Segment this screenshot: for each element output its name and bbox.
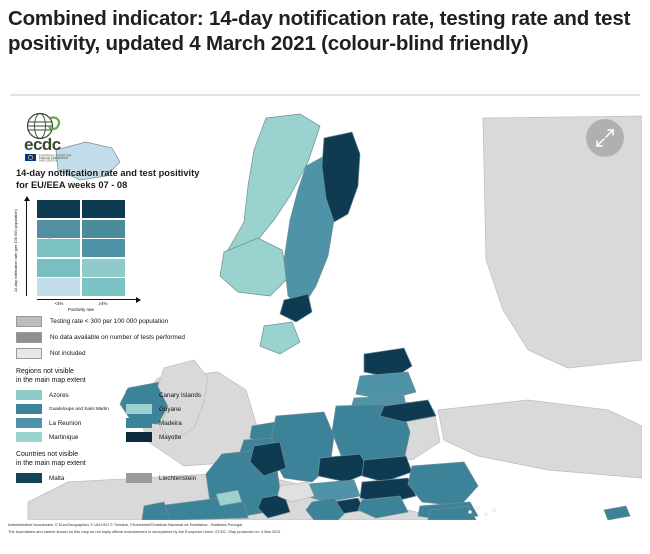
- ecdc-logo-mark: ecdc EUROPEAN CENTRE FOR DISEASE PREVENT…: [16, 112, 104, 162]
- legend-cell-r3c0: [37, 259, 80, 277]
- region-item-guadeloupe-saint-martin: Guadeloupe and Saint Martin: [16, 403, 126, 415]
- region-item-azores: Azores: [16, 389, 126, 401]
- svg-text:AND CONTROL: AND CONTROL: [39, 159, 58, 162]
- bivariate-legend-matrix: 14-day notification rate (per 100 000 po…: [12, 200, 227, 312]
- region-item-martinique: Martinique: [16, 431, 126, 443]
- region-label-5: Madeira: [159, 420, 182, 427]
- region-label-6: Martinique: [49, 434, 78, 441]
- region-swatch-5: [126, 418, 152, 428]
- legend-status-swatch-0: [16, 316, 42, 327]
- legend-cell-r3c1: [82, 259, 125, 277]
- region-swatch-4: [16, 418, 42, 428]
- legend-cell-r0c1: [82, 200, 125, 218]
- regions-heading-line-2: in the main map extent: [16, 377, 230, 386]
- region-label-4: La Reunion: [49, 420, 81, 427]
- region-item-canary-islands: Canary Islands: [126, 389, 226, 401]
- footer-line-1: Administrative boundaries: © EuroGeograp…: [8, 522, 642, 529]
- region-item-mayotte: Mayotte: [126, 431, 226, 443]
- expand-fullscreen-button[interactable]: [586, 119, 624, 157]
- legend-y-axis-arrow: [26, 200, 27, 296]
- legend-status-row-2: Not included: [16, 346, 230, 360]
- region-swatch-7: [126, 432, 152, 442]
- page-title: Combined indicator: 14-day notification …: [8, 6, 642, 56]
- legend-cell-r1c0: [37, 220, 80, 238]
- legend-cell-r2c0: [37, 239, 80, 257]
- page-root: Combined indicator: 14-day notification …: [0, 0, 650, 554]
- legend-cell-r1c1: [82, 220, 125, 238]
- legend-x-axis-arrow: [37, 299, 137, 300]
- footer-line-2: The boundaries and names shown on this m…: [8, 529, 642, 536]
- map-legend: ecdc EUROPEAN CENTRE FOR DISEASE PREVENT…: [12, 112, 230, 484]
- legend-status-swatch-1: [16, 332, 42, 343]
- region-label-1: Canary Islands: [159, 392, 201, 399]
- legend-title-line-2: for EU/EEA weeks 07 - 08: [16, 180, 226, 192]
- region-item-madeira: Madeira: [126, 417, 226, 429]
- regions-not-visible-heading: Regions not visible in the main map exte…: [16, 368, 230, 385]
- legend-x-tick-1: ≥4%: [81, 301, 125, 306]
- region-item-la-reunion: La Reunion: [16, 417, 126, 429]
- country-item-malta: Malta: [16, 472, 126, 484]
- title-divider: [10, 94, 640, 96]
- legend-x-axis-label: Positivity rate: [37, 307, 125, 312]
- legend-title-line-1: 14-day notification rate and test positi…: [16, 168, 226, 180]
- country-label-0: Malta: [49, 475, 64, 482]
- country-swatch-0: [16, 473, 42, 483]
- countries-heading-line-2: in the main map extent: [16, 460, 230, 469]
- region-label-3: Guyane: [159, 406, 181, 413]
- legend-color-grid: [37, 200, 125, 296]
- country-swatch-1: [126, 473, 152, 483]
- region-swatch-1: [126, 390, 152, 400]
- legend-title: 14-day notification rate and test positi…: [16, 168, 226, 191]
- country-label-1: Liechtenstein: [159, 475, 196, 482]
- legend-status-label-0: Testing rate < 300 per 100 000 populatio…: [50, 318, 168, 325]
- region-swatch-0: [16, 390, 42, 400]
- legend-y-axis-label: 14-day notification rate (per 100 000 po…: [13, 200, 21, 292]
- country-item-liechtenstein: Liechtenstein: [126, 472, 226, 484]
- countries-legend-grid: Malta Liechtenstein: [16, 472, 230, 484]
- legend-status-row-0: Testing rate < 300 per 100 000 populatio…: [16, 314, 230, 328]
- legend-status-swatch-2: [16, 348, 42, 359]
- map-figure[interactable]: .b { stroke:#6f8d97; stroke-width:0.7; }…: [8, 110, 642, 520]
- region-label-7: Mayotte: [159, 434, 181, 441]
- legend-x-tick-0: <4%: [37, 301, 81, 306]
- region-item-guyane: Guyane: [126, 403, 226, 415]
- countries-not-visible-heading: Countries not visible in the main map ex…: [16, 451, 230, 468]
- svg-text:ecdc: ecdc: [24, 135, 61, 154]
- map-attribution-footer: Administrative boundaries: © EuroGeograp…: [8, 522, 642, 535]
- legend-cell-r4c0: [37, 278, 80, 296]
- legend-status-label-1: No data available on number of tests per…: [50, 334, 185, 341]
- region-swatch-6: [16, 432, 42, 442]
- regions-legend-grid: Azores Canary Islands Guadeloupe and Sai…: [16, 389, 230, 443]
- region-label-0: Azores: [49, 392, 69, 399]
- legend-status-row-1: No data available on number of tests per…: [16, 330, 230, 344]
- eu-flag-icon: [25, 154, 36, 161]
- region-swatch-3: [126, 404, 152, 414]
- regions-heading-line-1: Regions not visible: [16, 368, 230, 377]
- legend-cell-r0c0: [37, 200, 80, 218]
- legend-status-swatches: Testing rate < 300 per 100 000 populatio…: [16, 314, 230, 360]
- legend-cell-r4c1: [82, 278, 125, 296]
- legend-status-label-2: Not included: [50, 350, 86, 357]
- region-label-2: Guadeloupe and Saint Martin: [49, 406, 109, 411]
- ecdc-logo: ecdc EUROPEAN CENTRE FOR DISEASE PREVENT…: [16, 112, 104, 162]
- region-swatch-2: [16, 404, 42, 414]
- countries-heading-line-1: Countries not visible: [16, 451, 230, 460]
- legend-cell-r2c1: [82, 239, 125, 257]
- expand-arrows-icon: [594, 127, 616, 149]
